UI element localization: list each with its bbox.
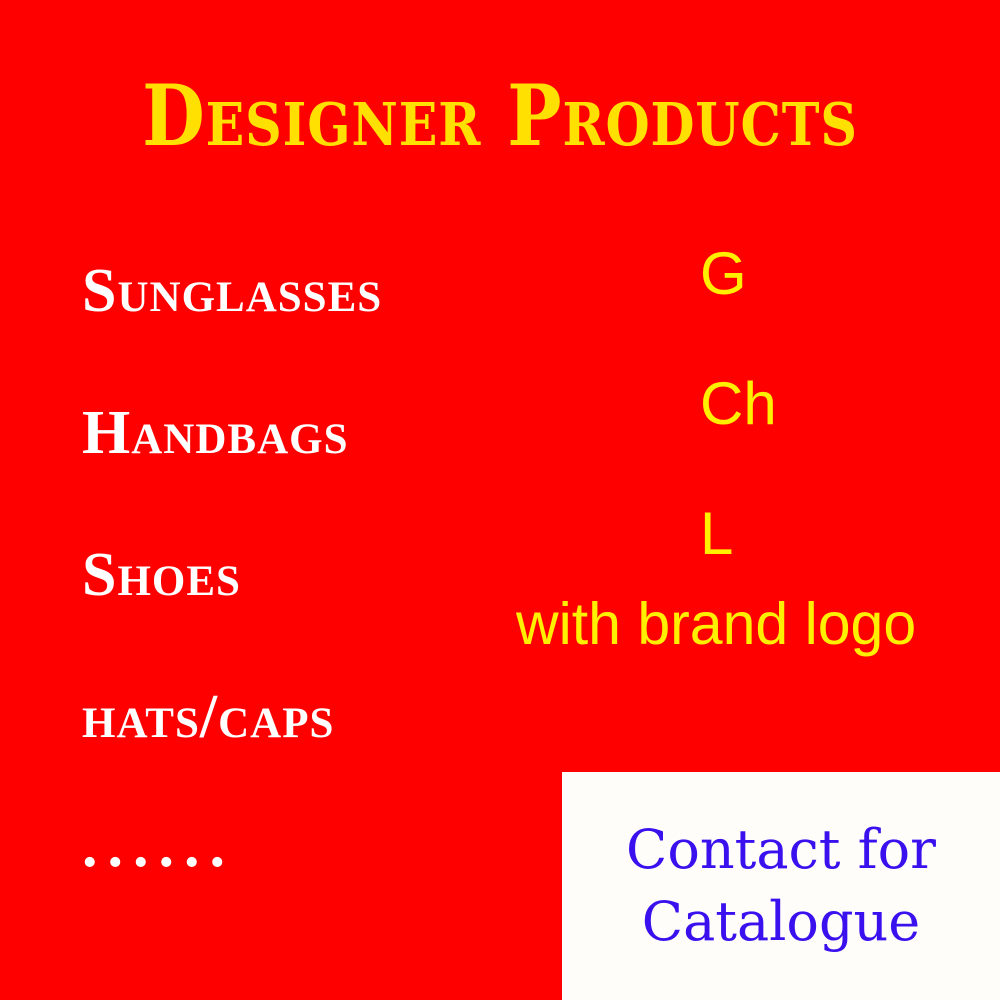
list-item-hats-caps: hats/caps [82, 684, 642, 826]
contact-panel: Contact for Catalogue [562, 772, 1000, 1000]
poster-canvas: Designer Products Sunglasses Handbags Sh… [0, 0, 1000, 1000]
brand-initial-ch: Ch [700, 373, 1000, 503]
brand-initials-column: G Ch L [700, 243, 1000, 633]
page-title: Designer Products [70, 66, 930, 166]
contact-line-secondary: Catalogue [642, 886, 921, 958]
brand-logo-note: with brand logo [516, 592, 1000, 656]
list-item-sunglasses: Sunglasses [82, 258, 642, 400]
list-item-handbags: Handbags [82, 400, 642, 542]
list-item-ellipsis: ...... [82, 826, 642, 968]
brand-initial-g: G [700, 243, 1000, 373]
contact-line-primary: Contact for [626, 814, 936, 886]
